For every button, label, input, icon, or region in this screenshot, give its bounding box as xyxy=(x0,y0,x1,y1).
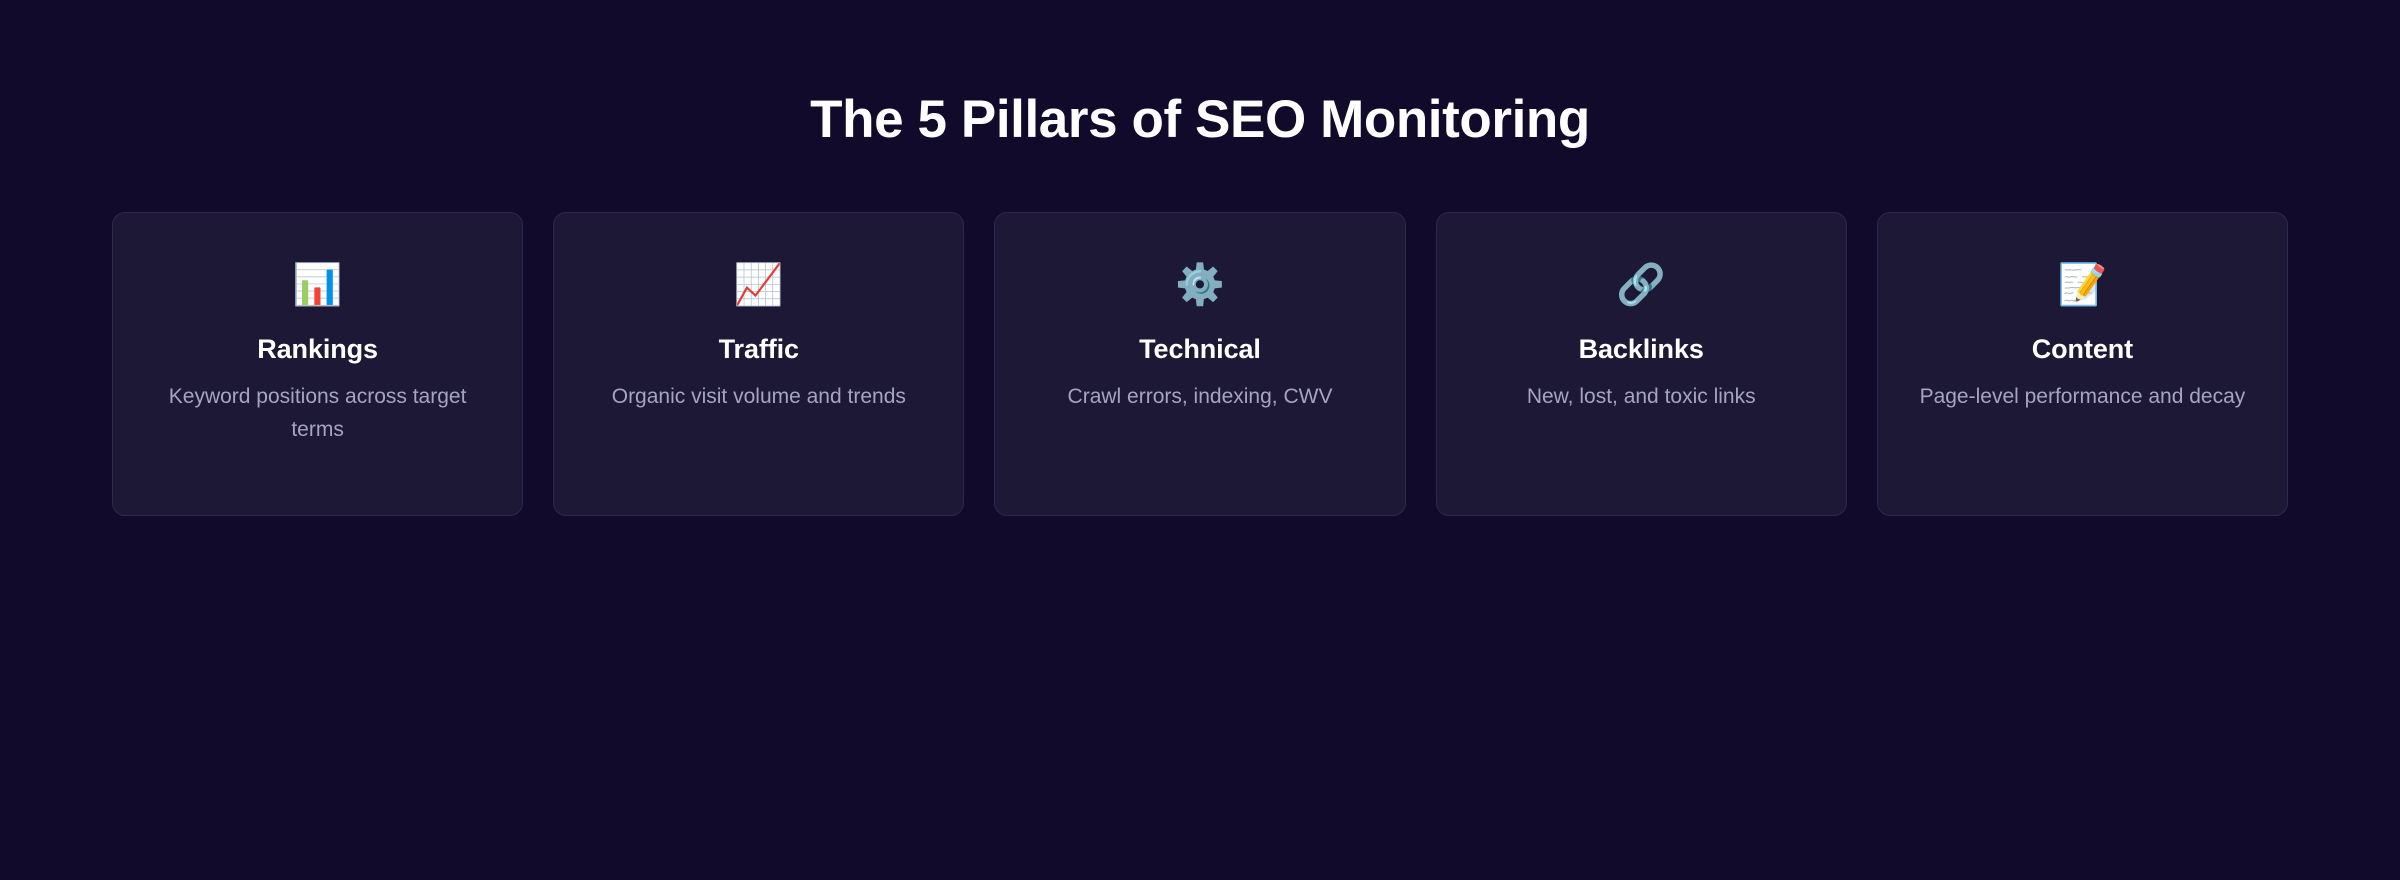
pillar-description: Page-level performance and decay xyxy=(1920,380,2246,413)
memo-icon: 📝 xyxy=(2058,263,2108,307)
pillar-card-rankings[interactable]: 📊 Rankings Keyword positions across targ… xyxy=(112,212,523,516)
pillar-description: Organic visit volume and trends xyxy=(612,380,906,413)
link-icon: 🔗 xyxy=(1616,263,1666,307)
pillar-title: Traffic xyxy=(719,333,799,366)
pillars-grid: 📊 Rankings Keyword positions across targ… xyxy=(112,212,2288,516)
pillar-description: Crawl errors, indexing, CWV xyxy=(1068,380,1333,413)
pillar-title: Content xyxy=(2032,333,2133,366)
pillar-description: Keyword positions across target terms xyxy=(148,380,488,446)
pillar-title: Backlinks xyxy=(1579,333,1704,366)
bar-chart-icon: 📊 xyxy=(293,263,343,307)
pillar-title: Rankings xyxy=(257,333,378,366)
pillar-card-backlinks[interactable]: 🔗 Backlinks New, lost, and toxic links xyxy=(1436,212,1847,516)
page-title: The 5 Pillars of SEO Monitoring xyxy=(0,88,2400,152)
pillars-page: The 5 Pillars of SEO Monitoring 📊 Rankin… xyxy=(0,0,2400,880)
pillar-card-content[interactable]: 📝 Content Page-level performance and dec… xyxy=(1877,212,2288,516)
pillar-card-traffic[interactable]: 📈 Traffic Organic visit volume and trend… xyxy=(553,212,964,516)
pillar-description: New, lost, and toxic links xyxy=(1527,380,1756,413)
pillar-title: Technical xyxy=(1139,333,1261,366)
chart-increasing-icon: 📈 xyxy=(734,263,784,307)
pillar-card-technical[interactable]: ⚙️ Technical Crawl errors, indexing, CWV xyxy=(994,212,1405,516)
gear-icon: ⚙️ xyxy=(1175,263,1225,307)
